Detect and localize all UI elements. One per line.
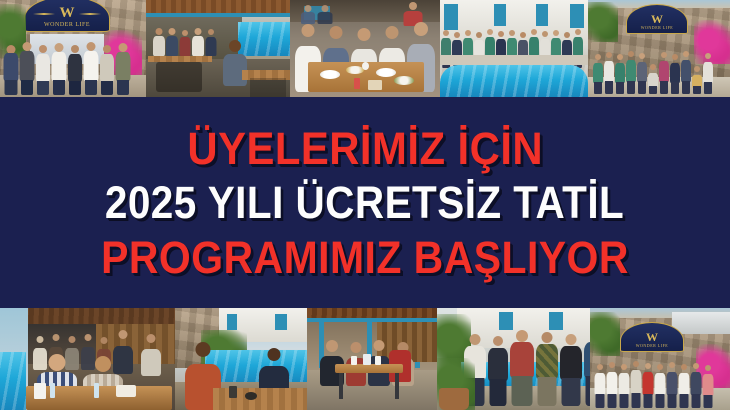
photo-bottom-5: W WONDER LIFE (590, 308, 730, 410)
photo-top-2 (146, 0, 290, 97)
photo-bottom-1 (0, 308, 175, 410)
photo-top-5: W WONDER LIFE (588, 0, 730, 97)
top-photo-strip: W WONDER LIFE (0, 0, 730, 97)
photo-bottom-2 (175, 308, 307, 410)
bottom-photo-strip: W WONDER LIFE (0, 308, 730, 410)
brand-monogram: W (60, 6, 75, 21)
photo-bottom-3 (307, 308, 437, 410)
headline-line-2: 2025 YILI ÜCRETSİZ TATİL (105, 180, 624, 225)
headline-line-3: PROGRAMIMIZ BAŞLIYOR (101, 235, 629, 280)
brand-monogram-2: W (651, 13, 663, 25)
brand-name-bottom: WONDER LIFE (636, 344, 669, 348)
photo-bottom-4 (437, 308, 590, 410)
brand-name-top-2: WONDER LIFE (641, 26, 674, 30)
photo-top-3 (290, 0, 440, 97)
brand-monogram-3: W (646, 331, 658, 343)
headline-band: ÜYELERİMİZ İÇİN 2025 YILI ÜCRETSİZ TATİL… (0, 97, 730, 308)
photo-top-4 (440, 0, 588, 97)
photo-top-1: W WONDER LIFE (0, 0, 146, 97)
headline-line-1: ÜYELERİMİZ İÇİN (187, 126, 543, 171)
promotional-poster: W WONDER LIFE (0, 0, 730, 410)
brand-name-top: WONDER LIFE (44, 22, 90, 28)
